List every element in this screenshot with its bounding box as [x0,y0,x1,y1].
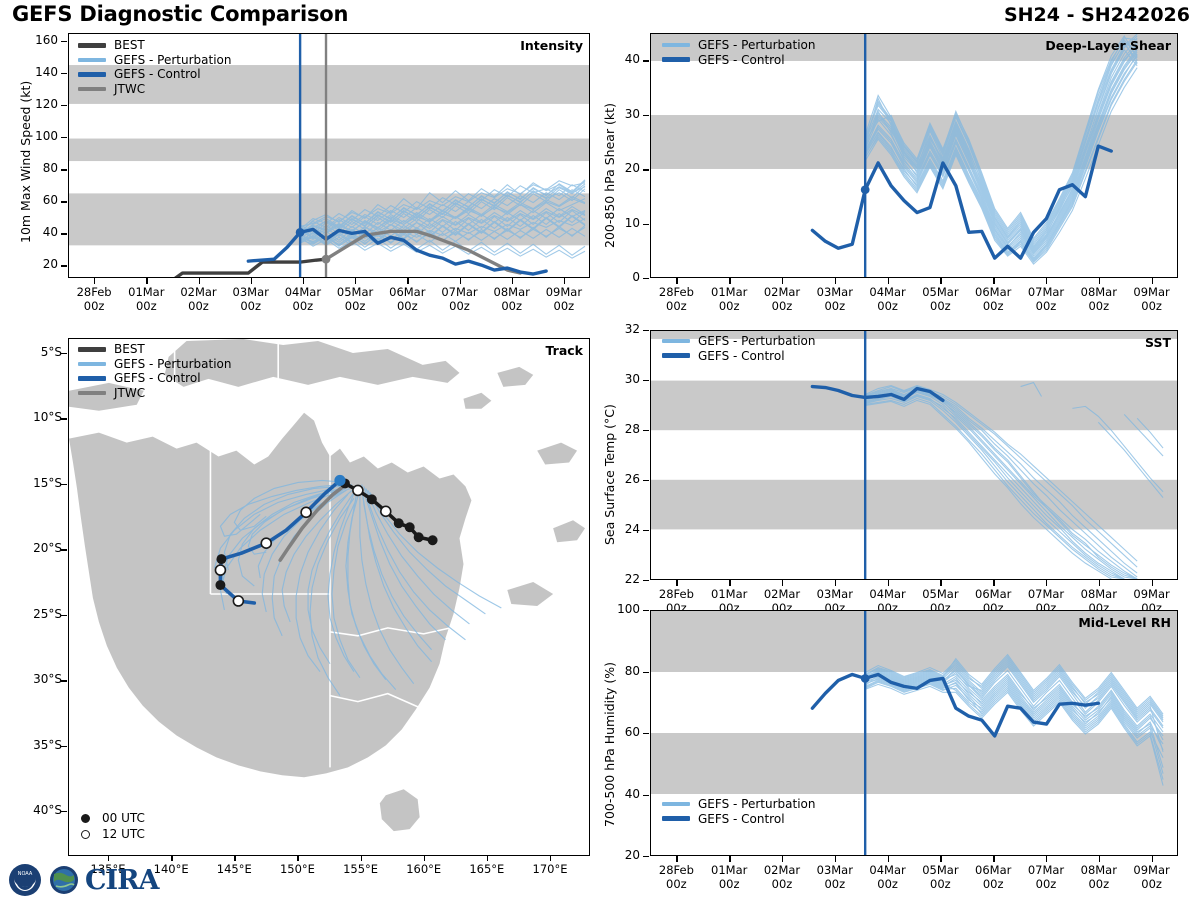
tick-date: 09Mar [1117,863,1187,877]
axis-tick-mark [61,169,67,170]
axis-tick-mark [643,733,649,734]
axis-tick-mark [729,580,730,586]
legend-swatch-control [78,376,106,381]
sst-corner-label: SST [1145,335,1171,350]
axis-tick-mark [61,615,67,616]
axis-tick-mark [61,265,67,266]
axis-tick-mark [1046,580,1047,586]
axis-tick-mark [643,115,649,116]
marker-legend-item: 12 UTC [76,826,145,842]
rh-y-tick-label: 100 [588,602,640,616]
intensity-x-tick-label: 09Mar00z [529,285,599,314]
axis-tick-mark [782,856,783,862]
intensity-y-tick-label: 160 [6,33,58,47]
intensity-y-tick-label: 120 [6,97,58,111]
legend-swatch-jtwc [78,87,106,91]
axis-tick-mark [835,580,836,586]
legend-swatch-control [662,353,690,358]
track-y-tick-label: 10°S [6,410,62,424]
axis-tick-mark [1046,278,1047,284]
legend-label: GEFS - Control [698,812,785,826]
sst-y-tick-label: 28 [588,422,640,436]
axis-tick-mark [355,278,356,284]
axis-tick-mark [234,855,235,861]
axis-tick-mark [643,480,649,481]
intensity-y-tick-label: 140 [6,65,58,79]
axis-tick-mark [835,856,836,862]
rh-y-tick-label: 20 [588,848,640,862]
track-legend: BEST GEFS - Perturbation GEFS - Control … [78,342,231,400]
legend-label: BEST [114,38,145,52]
axis-tick-mark [61,746,67,747]
axis-tick-mark [940,278,941,284]
shear-corner-label: Deep-Layer Shear [1045,38,1171,53]
track-x-tick-label: 155°E [326,862,396,876]
legend-swatch-best [78,43,106,48]
axis-tick-mark [643,169,649,170]
tick-date: 09Mar [1117,587,1187,601]
axis-tick-mark [643,278,649,279]
track-x-tick-label: 160°E [389,862,459,876]
axis-tick-mark [61,233,67,234]
legend-swatch-control [662,57,690,62]
track-y-tick-label: 30°S [6,672,62,686]
intensity-legend: BEST GEFS - Perturbation GEFS - Control … [78,38,231,96]
marker-legend-label: 00 UTC [102,811,145,825]
axis-tick-mark [888,580,889,586]
axis-tick-mark [940,580,941,586]
track-map-svg [69,339,589,855]
legend-swatch-perturbation [662,339,690,343]
rh-y-tick-label: 40 [588,787,640,801]
legend-label: BEST [114,342,145,356]
legend-item: GEFS - Control [662,812,815,827]
rh-legend: GEFS - Perturbation GEFS - Control [662,797,815,826]
axis-tick-mark [61,484,67,485]
legend-swatch-perturbation [78,362,106,366]
legend-label: GEFS - Perturbation [114,53,231,67]
legend-swatch-control [662,816,690,821]
track-marker-legend: 00 UTC 12 UTC [76,810,145,842]
noaa-logo-icon: NOAA [8,863,42,897]
axis-tick-mark [643,672,649,673]
axis-tick-mark [1152,278,1153,284]
axis-tick-mark [782,580,783,586]
rh-y-tick-label: 80 [588,664,640,678]
axis-tick-mark [643,380,649,381]
sst-plot-frame [650,330,1178,580]
rh-x-tick-label: 09Mar00z [1117,863,1187,892]
shear-y-tick-label: 20 [588,161,640,175]
legend-item: GEFS - Control [662,53,815,68]
intensity-y-tick-label: 20 [6,257,58,271]
rh-gefs-init-marker [861,674,870,683]
axis-tick-mark [108,855,109,861]
cira-logo: NOAA CIRA [8,863,159,897]
axis-tick-mark [251,278,252,284]
axis-tick-mark [361,855,362,861]
legend-item: GEFS - Control [78,371,231,386]
storm-id-title: SH24 - SH242026 [1004,4,1190,26]
intensity-y-tick-label: 60 [6,193,58,207]
axis-tick-mark [61,41,67,42]
legend-label: GEFS - Perturbation [698,334,815,348]
sst-y-tick-label: 32 [588,322,640,336]
axis-tick-mark [171,855,172,861]
axis-tick-mark [993,580,994,586]
axis-tick-mark [1099,278,1100,284]
axis-tick-mark [61,549,67,550]
axis-tick-mark [146,278,147,284]
axis-tick-mark [1046,856,1047,862]
intensity-panel: Intensity BEST GEFS - Perturbation GEFS … [68,33,590,278]
axis-tick-mark [940,856,941,862]
axis-tick-mark [676,580,677,586]
sst-legend: GEFS - Perturbation GEFS - Control [662,334,815,363]
axis-tick-mark [643,224,649,225]
shear-y-tick-label: 30 [588,107,640,121]
axis-tick-mark [729,278,730,284]
axis-tick-mark [643,795,649,796]
sst-y-tick-label: 22 [588,572,640,586]
legend-item: JTWC [78,386,231,401]
axis-tick-mark [888,278,889,284]
tick-hour: 00z [529,299,599,313]
axis-tick-mark [61,105,67,106]
legend-swatch-perturbation [662,43,690,47]
legend-swatch-jtwc [78,391,106,395]
axis-tick-mark [1152,580,1153,586]
axis-tick-mark [643,330,649,331]
legend-item: BEST [78,342,231,357]
axis-tick-mark [460,278,461,284]
legend-item: BEST [78,38,231,53]
axis-tick-mark [643,530,649,531]
axis-tick-mark [643,856,649,857]
axis-tick-mark [676,278,677,284]
tick-hour: 00z [1117,877,1187,891]
axis-tick-mark [61,201,67,202]
axis-tick-mark [782,278,783,284]
legend-item: GEFS - Perturbation [662,38,815,53]
axis-tick-mark [61,353,67,354]
rh-y-axis-label: 700-500 hPa Humidity (%) [602,662,617,827]
legend-label: GEFS - Perturbation [698,797,815,811]
axis-tick-mark [94,278,95,284]
axis-tick-mark [643,580,649,581]
axis-tick-mark [487,855,488,861]
axis-tick-mark [729,856,730,862]
axis-tick-mark [199,278,200,284]
tick-date: 09Mar [529,285,599,299]
sst-plot-svg [651,331,1177,579]
track-x-tick-label: 150°E [262,862,332,876]
legend-label: GEFS - Control [114,67,201,81]
svg-text:NOAA: NOAA [18,871,33,877]
shear-panel: Deep-Layer Shear GEFS - Perturbation GEF… [650,33,1178,278]
axis-tick-mark [835,278,836,284]
sst-panel: SST GEFS - Perturbation GEFS - Control [650,330,1178,580]
open-circle-icon [81,830,90,839]
axis-tick-mark [643,610,649,611]
rh-corner-label: Mid-Level RH [1078,615,1171,630]
legend-item: GEFS - Control [78,67,231,82]
axis-tick-mark [1099,856,1100,862]
shear-plot-frame [650,33,1178,278]
sst-y-tick-label: 26 [588,472,640,486]
legend-label: GEFS - Perturbation [698,38,815,52]
legend-label: GEFS - Control [698,53,785,67]
legend-swatch-perturbation [662,802,690,806]
track-y-tick-label: 40°S [6,803,62,817]
intensity-corner-label: Intensity [520,38,583,53]
intensity-jtwc-init-marker [322,255,331,264]
shear-gefs-init-marker [861,185,870,194]
axis-tick-mark [643,60,649,61]
marker-legend-item: 00 UTC [76,810,145,826]
axis-tick-mark [1099,580,1100,586]
track-x-tick-label: 165°E [452,862,522,876]
shear-x-tick-label: 09Mar00z [1117,285,1187,314]
track-panel: Track BEST GEFS - Perturbation GEFS - Co… [68,338,590,856]
track-plot-frame [68,338,590,856]
legend-item: JTWC [78,82,231,97]
shear-plot-svg [651,34,1177,277]
axis-tick-mark [424,855,425,861]
shear-y-tick-label: 10 [588,216,640,230]
track-y-tick-label: 15°S [6,476,62,490]
tick-hour: 00z [1117,299,1187,313]
legend-label: GEFS - Control [114,371,201,385]
shear-y-tick-label: 40 [588,52,640,66]
legend-label: JTWC [114,386,145,400]
axis-tick-mark [643,430,649,431]
rh-y-tick-label: 60 [588,725,640,739]
sst-y-tick-label: 30 [588,372,640,386]
track-y-tick-label: 20°S [6,541,62,555]
legend-swatch-perturbation [78,58,106,62]
axis-tick-mark [676,856,677,862]
axis-tick-mark [550,855,551,861]
track-y-tick-label: 25°S [6,607,62,621]
axis-tick-mark [61,811,67,812]
filled-circle-icon [81,814,90,823]
track-x-tick-label: 170°E [515,862,585,876]
track-x-tick-label: 145°E [199,862,269,876]
track-corner-label: Track [546,343,583,358]
legend-swatch-control [78,72,106,77]
axis-tick-mark [993,278,994,284]
legend-label: JTWC [114,82,145,96]
legend-item: GEFS - Perturbation [662,797,815,812]
legend-item: GEFS - Perturbation [78,53,231,68]
axis-tick-mark [407,278,408,284]
cira-logo-text: CIRA [85,865,159,896]
shear-y-tick-label: 0 [588,270,640,284]
rh-panel: Mid-Level RH GEFS - Perturbation GEFS - … [650,610,1178,856]
axis-tick-mark [297,855,298,861]
axis-tick-mark [303,278,304,284]
track-y-tick-label: 5°S [6,345,62,359]
intensity-best-line [137,259,326,277]
legend-label: GEFS - Perturbation [114,357,231,371]
axis-tick-mark [61,73,67,74]
axis-tick-mark [61,137,67,138]
axis-tick-mark [888,856,889,862]
axis-tick-mark [564,278,565,284]
axis-tick-mark [1152,856,1153,862]
legend-item: GEFS - Perturbation [78,357,231,372]
legend-swatch-best [78,347,106,352]
legend-item: GEFS - Control [662,349,815,364]
axis-tick-mark [61,418,67,419]
intensity-gefs-init-marker [296,228,305,237]
legend-item: GEFS - Perturbation [662,334,815,349]
axis-tick-mark [993,856,994,862]
axis-tick-mark [512,278,513,284]
marker-legend-label: 12 UTC [102,827,145,841]
intensity-y-tick-label: 100 [6,129,58,143]
axis-tick-mark [61,680,67,681]
shear-legend: GEFS - Perturbation GEFS - Control [662,38,815,67]
globe-icon [46,864,82,896]
track-y-tick-label: 35°S [6,738,62,752]
intensity-y-tick-label: 40 [6,225,58,239]
legend-label: GEFS - Control [698,349,785,363]
page-title: GEFS Diagnostic Comparison [12,2,348,26]
sst-y-tick-label: 24 [588,522,640,536]
tick-date: 09Mar [1117,285,1187,299]
intensity-y-tick-label: 80 [6,161,58,175]
